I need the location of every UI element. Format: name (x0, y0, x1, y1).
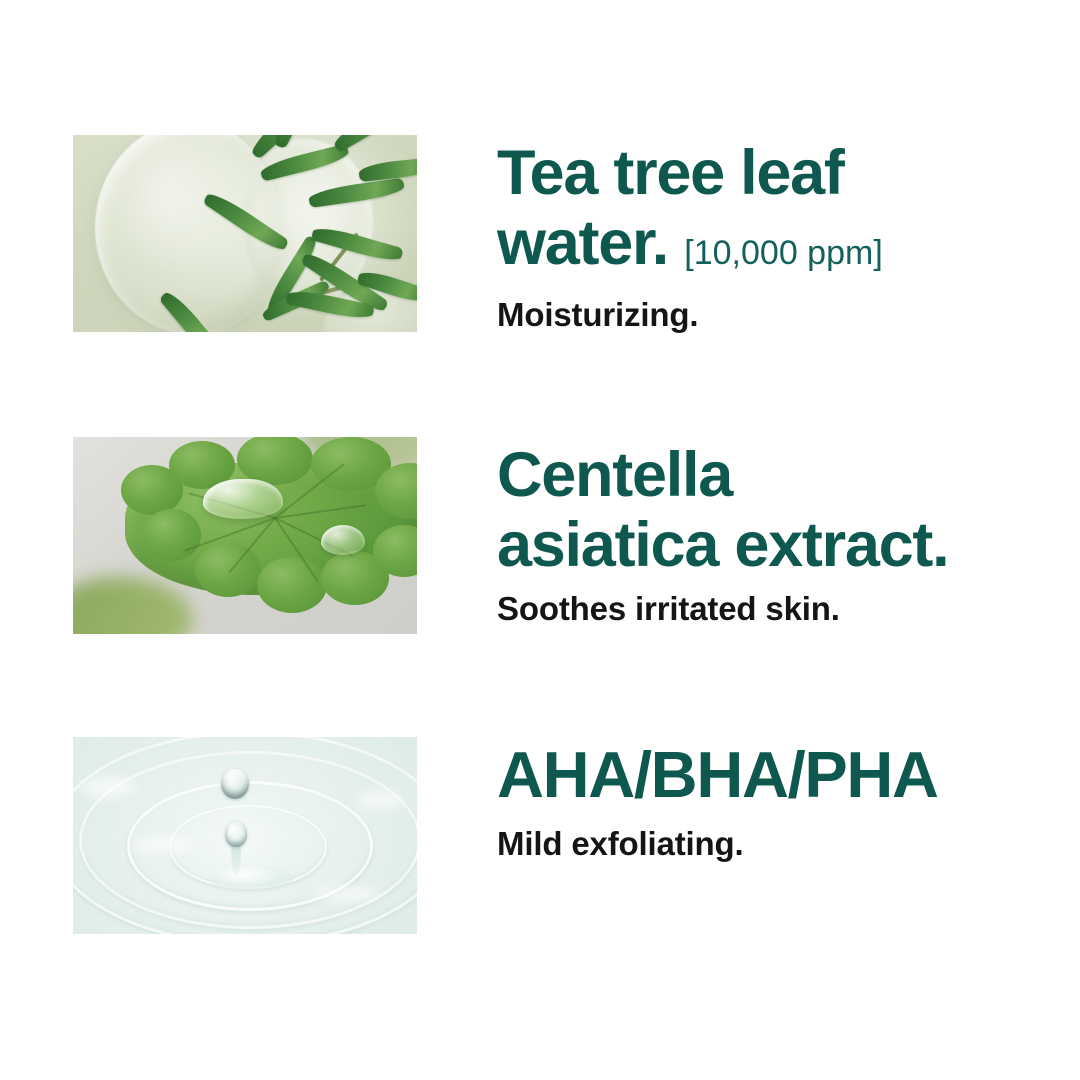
tea-tree-leaf-photo (73, 135, 417, 332)
ppm-annotation: [10,000 ppm] (684, 234, 882, 272)
centella-text-block: Centella asiatica extract. Soothes irrit… (497, 437, 1080, 628)
water-sheen (131, 837, 195, 853)
droplet-airborne (221, 769, 249, 799)
headline-line-2: water. (497, 208, 668, 278)
tea-tree-leaf (331, 135, 412, 153)
headline-line-2: asiatica extract. (497, 510, 948, 580)
tea-tree-leaf (358, 157, 417, 182)
water-droplet-large (203, 479, 283, 519)
splash-crown (209, 865, 293, 891)
ingredient-headline: AHA/BHA/PHA (497, 737, 1080, 811)
water-sheen (357, 791, 403, 809)
ingredient-benefit: Soothes irritated skin. (497, 580, 1080, 628)
ingredient-row: Centella asiatica extract. Soothes irrit… (73, 437, 1033, 634)
ingredient-benefit: Mild exfoliating. (497, 811, 1080, 863)
water-droplet-small (321, 525, 365, 555)
ingredient-row: Tea tree leaf water. [10,000 ppm] Moistu… (73, 135, 1033, 332)
ingredient-headline: Tea tree leaf water. [10,000 ppm] (497, 135, 1080, 288)
water-sheen (311, 887, 381, 901)
acids-text-block: AHA/BHA/PHA Mild exfoliating. (497, 737, 1080, 863)
leaf-lobe (195, 543, 261, 597)
ingredient-benefit: Moisturizing. (497, 288, 1080, 334)
headline-line-1: Centella (497, 440, 732, 510)
leaf-lobe (257, 557, 327, 613)
ingredient-row: AHA/BHA/PHA Mild exfoliating. (73, 737, 1033, 934)
centella-leaf-photo (73, 437, 417, 634)
tea-tree-text-block: Tea tree leaf water. [10,000 ppm] Moistu… (497, 135, 1080, 334)
ingredient-list: Tea tree leaf water. [10,000 ppm] Moistu… (0, 0, 1080, 1080)
ingredient-headline: Centella asiatica extract. (497, 437, 1080, 580)
droplet-rebound (225, 821, 247, 847)
leaf-lobe (143, 509, 201, 561)
headline-line-1: Tea tree leaf (497, 138, 844, 208)
water-sheen (81, 777, 135, 797)
centella-leaf-shape (125, 447, 417, 627)
water-droplet-photo (73, 737, 417, 934)
